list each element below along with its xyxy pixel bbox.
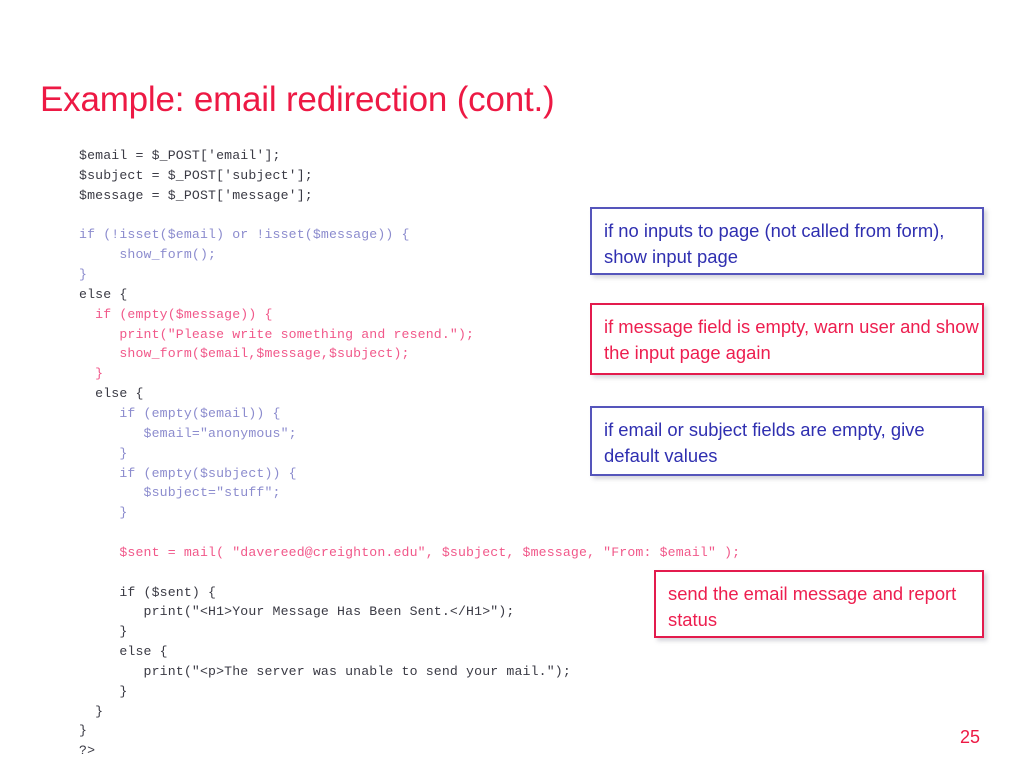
code-line: else {	[79, 642, 740, 662]
callout-send-email: send the email message and report status	[654, 570, 984, 638]
code-line: $sent = mail( "davereed@creighton.edu", …	[79, 543, 740, 563]
code-line: }	[79, 682, 740, 702]
code-line	[79, 523, 740, 543]
code-line: }	[79, 503, 740, 523]
page-number: 25	[960, 727, 980, 748]
page-title: Example: email redirection (cont.)	[40, 79, 940, 121]
code-line: $message = $_POST['message'];	[79, 186, 740, 206]
slide-canvas: Example: email redirection (cont.) $emai…	[0, 0, 1023, 780]
code-line: }	[79, 702, 740, 722]
code-line: print("<H1>Your Message Has Been Sent.</…	[79, 602, 740, 622]
code-line: $email = $_POST['email'];	[79, 146, 740, 166]
code-line: print("<p>The server was unable to send …	[79, 662, 740, 682]
code-line: $subject = $_POST['subject'];	[79, 166, 740, 186]
code-line: if ($sent) {	[79, 583, 740, 603]
code-line: else {	[79, 285, 740, 305]
code-line: }	[79, 622, 740, 642]
code-line	[79, 563, 740, 583]
callout-no-inputs: if no inputs to page (not called from fo…	[590, 207, 984, 275]
code-line: $subject="stuff";	[79, 483, 740, 503]
code-line: }	[79, 721, 740, 741]
code-line: ?>	[79, 741, 740, 761]
callout-empty-message: if message field is empty, warn user and…	[590, 303, 984, 375]
callout-default-values: if email or subject fields are empty, gi…	[590, 406, 984, 476]
code-line: else {	[79, 384, 740, 404]
